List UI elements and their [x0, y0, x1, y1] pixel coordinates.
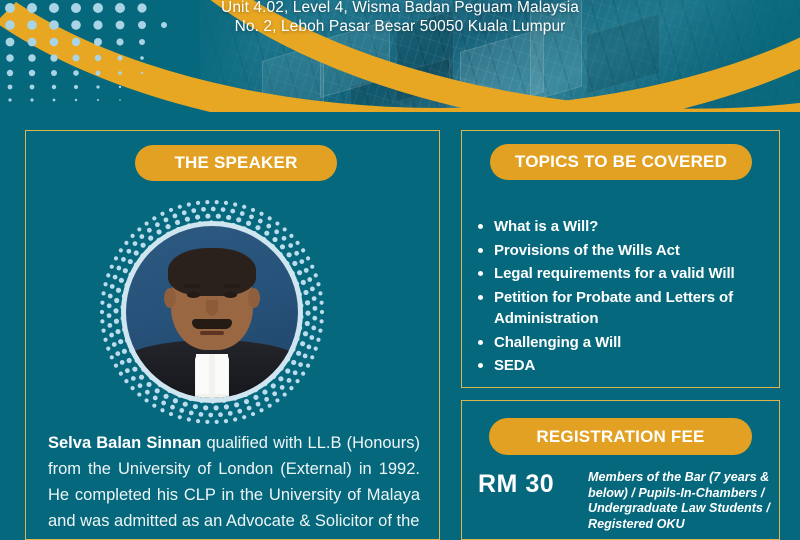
topics-list: What is a Will? Provisions of the Wills … — [472, 216, 772, 379]
fee-amount: RM 30 — [478, 470, 598, 499]
topics-section-pill: TOPICS TO BE COVERED — [490, 144, 752, 180]
header-banner: Unit 4.02, Level 4, Wisma Badan Peguam M… — [0, 0, 800, 112]
address-line-2: No. 2, Leboh Pasar Besar 50050 Kuala Lum… — [0, 17, 800, 36]
address-line-1: Unit 4.02, Level 4, Wisma Badan Peguam M… — [0, 0, 800, 17]
fee-description: Members of the Bar (7 years & below) / P… — [588, 470, 778, 532]
topic-item: What is a Will? — [472, 216, 772, 238]
topic-item: Legal requirements for a valid Will — [472, 263, 772, 285]
topic-item: Provisions of the Wills Act — [472, 240, 772, 262]
speaker-pill-label: THE SPEAKER — [174, 153, 297, 173]
venue-address: Unit 4.02, Level 4, Wisma Badan Peguam M… — [0, 0, 800, 36]
topic-item: SEDA — [472, 355, 772, 377]
topic-item: Petition for Probate and Letters of Admi… — [472, 287, 772, 330]
topics-pill-label: TOPICS TO BE COVERED — [515, 152, 727, 172]
speaker-section-pill: THE SPEAKER — [135, 145, 337, 181]
speaker-name: Selva Balan Sinnan — [48, 434, 201, 452]
portrait-ring — [121, 221, 303, 403]
fee-pill-label: REGISTRATION FEE — [536, 427, 704, 447]
speaker-portrait — [98, 198, 326, 426]
fee-section-pill: REGISTRATION FEE — [489, 418, 752, 455]
speaker-bio: Selva Balan Sinnan qualified with LL.B (… — [48, 430, 420, 534]
topic-item: Challenging a Will — [472, 332, 772, 354]
portrait-photo — [126, 226, 298, 398]
